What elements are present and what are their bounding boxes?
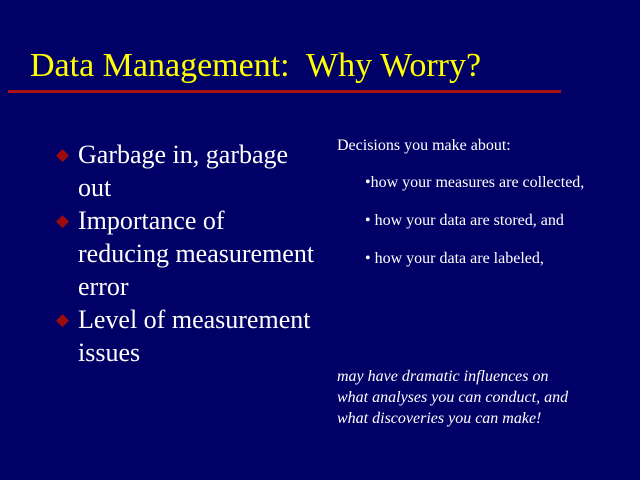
sub-list-item: • how your data are labeled, — [365, 248, 595, 269]
title-divider — [8, 90, 561, 93]
page-title: Data Management: Why Worry? — [30, 46, 481, 86]
diamond-bullet-icon: ◆ — [56, 303, 69, 336]
right-column-heading: Decisions you make about: — [337, 136, 597, 156]
list-item-label: Importance of reducing measurement error — [78, 206, 314, 301]
sub-list-item: •how your measures are collected, — [365, 172, 595, 193]
list-item: ◆ Importance of reducing measurement err… — [56, 204, 316, 303]
slide: Data Management: Why Worry? ◆ Garbage in… — [0, 0, 640, 480]
sub-list-item: • how your data are stored, and — [365, 210, 595, 231]
left-bullet-list: ◆ Garbage in, garbage out ◆ Importance o… — [56, 138, 316, 369]
list-item-label: Level of measurement issues — [78, 305, 310, 367]
right-text-column: Decisions you make about: •how your meas… — [337, 136, 597, 286]
list-item-label: Garbage in, garbage out — [78, 140, 288, 202]
list-item: ◆ Level of measurement issues — [56, 303, 316, 369]
list-item: ◆ Garbage in, garbage out — [56, 138, 316, 204]
diamond-bullet-icon: ◆ — [56, 138, 69, 171]
diamond-bullet-icon: ◆ — [56, 204, 69, 237]
closing-note: may have dramatic influences on what ana… — [337, 366, 582, 429]
